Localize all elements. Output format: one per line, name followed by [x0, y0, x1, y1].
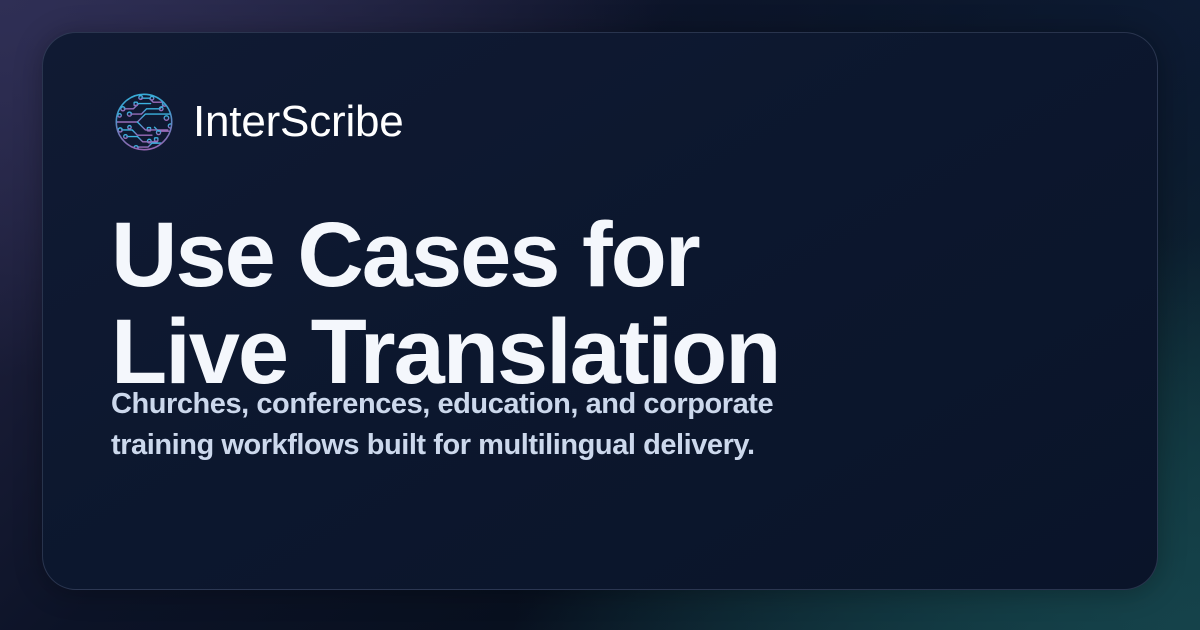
page-subtitle: Churches, conferences, education, and co… — [111, 384, 773, 466]
og-card-canvas: InterScribe Use Cases for Live Translati… — [0, 0, 1200, 630]
hero-card: InterScribe Use Cases for Live Translati… — [42, 32, 1158, 590]
page-title: Use Cases for Live Translation — [111, 207, 1097, 401]
circuit-globe-icon — [111, 89, 177, 155]
brand-lockup: InterScribe — [111, 89, 1097, 155]
hero-card-content: InterScribe Use Cases for Live Translati… — [111, 89, 1097, 541]
brand-wordmark: InterScribe — [193, 100, 404, 144]
